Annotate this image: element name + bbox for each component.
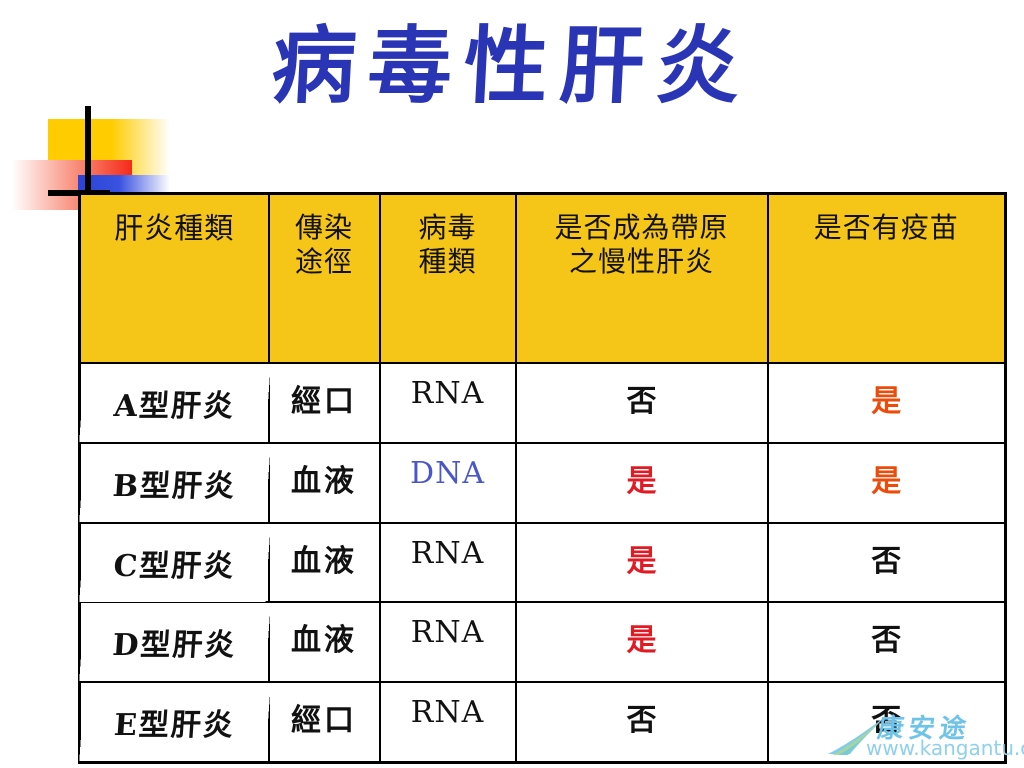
cell-vaccine-e: 否 bbox=[768, 682, 1006, 763]
cell-vaccine-d: 否 bbox=[768, 602, 1006, 682]
cell-route-c: 血液 bbox=[269, 523, 380, 603]
cell-virus-a: RNA bbox=[380, 363, 516, 443]
cell-route-e: 經口 bbox=[269, 682, 380, 763]
header-vaccine: 是否有疫苗 bbox=[768, 194, 1006, 364]
cell-vaccine-c: 否 bbox=[768, 523, 1006, 603]
header-transmission-route-line1: 傳染 bbox=[274, 211, 375, 245]
cell-route-b: 血液 bbox=[269, 443, 380, 523]
header-chronic-carrier-line2: 之慢性肝炎 bbox=[521, 245, 763, 279]
header-chronic-carrier: 是否成為帶原 之慢性肝炎 bbox=[516, 194, 768, 364]
header-chronic-carrier-line1: 是否成為帶原 bbox=[521, 211, 763, 245]
hepatitis-comparison-table: 肝炎種類 傳染 途徑 病毒 種類 是否成為帶原 之慢性肝炎 是否有疫苗 bbox=[78, 192, 1007, 764]
row-label-hepatitis-a: A型肝炎 bbox=[77, 363, 272, 443]
cell-chronic-b: 是 bbox=[516, 443, 768, 523]
page-title: 病毒性肝炎 bbox=[0, 22, 1024, 110]
cell-virus-d: RNA bbox=[380, 602, 516, 682]
table-row: E型肝炎 經口 RNA 否 否 bbox=[80, 682, 1006, 763]
table-row: B型肝炎 血液 DNA 是 是 bbox=[80, 443, 1006, 523]
row-label-hepatitis-d: D型肝炎 bbox=[77, 602, 272, 682]
cell-chronic-d: 是 bbox=[516, 602, 768, 682]
hepatitis-comparison-table-wrapper: 肝炎種類 傳染 途徑 病毒 種類 是否成為帶原 之慢性肝炎 是否有疫苗 bbox=[78, 192, 1004, 764]
cell-virus-b: DNA bbox=[380, 443, 516, 523]
row-label-hepatitis-c: C型肝炎 bbox=[77, 523, 272, 603]
cell-virus-e: RNA bbox=[380, 682, 516, 763]
cell-vaccine-a: 是 bbox=[768, 363, 1006, 443]
cell-virus-c: RNA bbox=[380, 523, 516, 603]
header-hepatitis-type: 肝炎種類 bbox=[80, 194, 269, 364]
row-label-hepatitis-e: E型肝炎 bbox=[77, 682, 272, 763]
vertical-rule-shape bbox=[85, 106, 91, 194]
header-virus-type-line1: 病毒 bbox=[385, 211, 511, 245]
table-header-row: 肝炎種類 傳染 途徑 病毒 種類 是否成為帶原 之慢性肝炎 是否有疫苗 bbox=[80, 194, 1006, 364]
header-virus-type-line2: 種類 bbox=[385, 245, 511, 279]
cell-route-d: 血液 bbox=[269, 602, 380, 682]
cell-chronic-e: 否 bbox=[516, 682, 768, 763]
cell-chronic-c: 是 bbox=[516, 523, 768, 603]
header-transmission-route: 傳染 途徑 bbox=[269, 194, 380, 364]
slide-canvas: 病毒性肝炎 肝炎種類 傳染 途徑 病毒 種類 是 bbox=[0, 0, 1024, 768]
header-transmission-route-line2: 途徑 bbox=[274, 245, 375, 279]
cell-route-a: 經口 bbox=[269, 363, 380, 443]
cell-vaccine-b: 是 bbox=[768, 443, 1006, 523]
row-label-hepatitis-b: B型肝炎 bbox=[77, 443, 272, 523]
header-virus-type: 病毒 種類 bbox=[380, 194, 516, 364]
table-row: C型肝炎 血液 RNA 是 否 bbox=[80, 523, 1006, 603]
cell-chronic-a: 否 bbox=[516, 363, 768, 443]
table-row: A型肝炎 經口 RNA 否 是 bbox=[80, 363, 1006, 443]
table-row: D型肝炎 血液 RNA 是 否 bbox=[80, 602, 1006, 682]
